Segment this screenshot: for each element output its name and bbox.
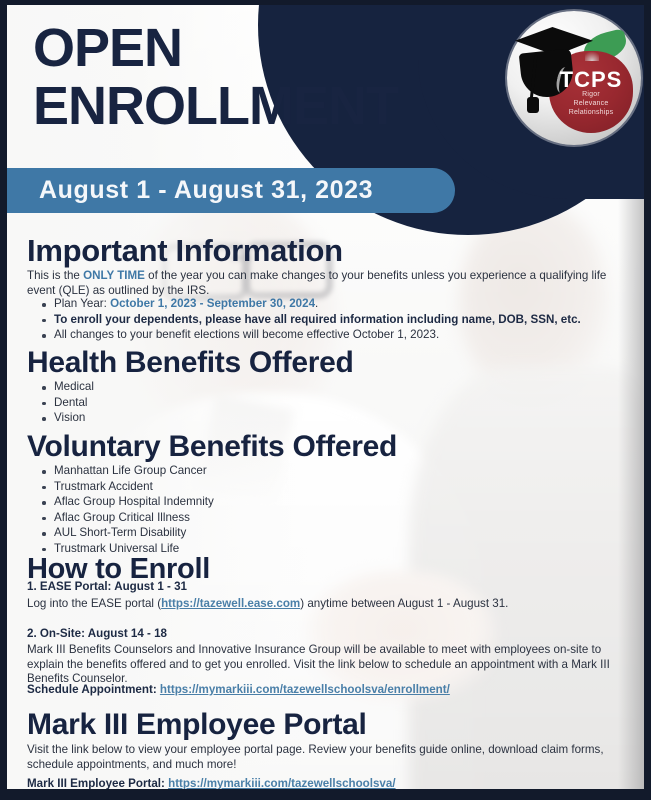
health-benefits-list: Medical Dental Vision (27, 380, 454, 427)
page-title-line1: OPEN (33, 18, 182, 78)
step1-text-after: ) anytime between August 1 - August 31. (300, 597, 508, 610)
section-heading-important-information: Important Information (27, 233, 343, 269)
date-range-banner: August 1 - August 31, 2023 (7, 168, 455, 213)
enroll-step2-paragraph: Mark III Benefits Counselors and Innovat… (27, 643, 627, 687)
list-item: Medical (54, 380, 454, 395)
graduation-tassel-end (527, 97, 539, 113)
apple-stem-notch (585, 49, 599, 61)
section-heading-employee-portal: Mark III Employee Portal (27, 708, 367, 742)
list-item: Manhattan Life Group Cancer (54, 464, 474, 479)
schedule-appointment-label: Schedule Appointment: (27, 683, 160, 696)
tcps-tagline-line1: Rigor (549, 90, 633, 99)
list-item: Dental (54, 396, 454, 411)
list-item: Aflac Group Hospital Indemnity (54, 495, 474, 510)
section-heading-health-benefits: Health Benefits Offered (27, 346, 354, 380)
schedule-appointment-row: Schedule Appointment: https://mymarkiii.… (27, 683, 627, 698)
enroll-step1-heading: 1. EASE Portal: August 1 - 31 (27, 580, 187, 595)
enroll-step2-heading: 2. On-Site: August 14 - 18 (27, 627, 167, 642)
list-item: Aflac Group Critical Illness (54, 511, 474, 526)
tcps-tagline: Rigor Relevance Relationships (549, 90, 633, 117)
tcps-tagline-line3: Relationships (549, 108, 633, 117)
employee-portal-link-row: Mark III Employee Portal: https://mymark… (27, 777, 627, 789)
intro-text-before: This is the (27, 269, 83, 282)
employee-portal-label: Mark III Employee Portal: (27, 777, 168, 789)
list-item: Trustmark Accident (54, 480, 474, 495)
ease-portal-link[interactable]: https://tazewell.ease.com (161, 597, 300, 610)
page-title-line2: ENROLLMENT (33, 77, 398, 135)
flyer-canvas: OPEN ENROLLMENT August 1 - August 31, 20… (7, 5, 644, 789)
schedule-appointment-link[interactable]: https://mymarkiii.com/tazewellschoolsva/… (160, 683, 450, 696)
list-item: All changes to your benefit elections wi… (54, 328, 644, 343)
step1-text-before: Log into the EASE portal ( (27, 597, 161, 610)
section-heading-voluntary-benefits: Voluntary Benefits Offered (27, 430, 397, 464)
enroll-step1-paragraph: Log into the EASE portal (https://tazewe… (27, 597, 627, 612)
page-title: OPEN ENROLLMENT (33, 19, 398, 135)
plan-year-period: . (315, 297, 318, 310)
intro-accent-only-time: ONLY TIME (83, 269, 145, 282)
employee-portal-paragraph: Visit the link below to view your employ… (27, 743, 627, 772)
tcps-tagline-line2: Relevance (549, 99, 633, 108)
list-item: To enroll your dependents, please have a… (54, 313, 644, 328)
list-item: Plan Year: October 1, 2023 - September 3… (54, 297, 644, 312)
open-enrollment-flyer: OPEN ENROLLMENT August 1 - August 31, 20… (0, 0, 651, 800)
voluntary-benefits-list: Manhattan Life Group Cancer Trustmark Ac… (27, 464, 474, 558)
plan-year-label: Plan Year: (54, 297, 110, 310)
important-bullet-list: Plan Year: October 1, 2023 - September 3… (27, 297, 644, 344)
list-item: Vision (54, 411, 454, 426)
tcps-logo: TCPS Rigor Relevance Relationships (507, 11, 641, 145)
important-intro-paragraph: This is the ONLY TIME of the year you ca… (27, 269, 627, 298)
employee-portal-link[interactable]: https://mymarkiii.com/tazewellschoolsva/ (168, 777, 395, 789)
plan-year-value: October 1, 2023 - September 30, 2024 (110, 297, 315, 310)
list-item: AUL Short-Term Disability (54, 526, 474, 541)
date-range-text: August 1 - August 31, 2023 (7, 176, 373, 205)
